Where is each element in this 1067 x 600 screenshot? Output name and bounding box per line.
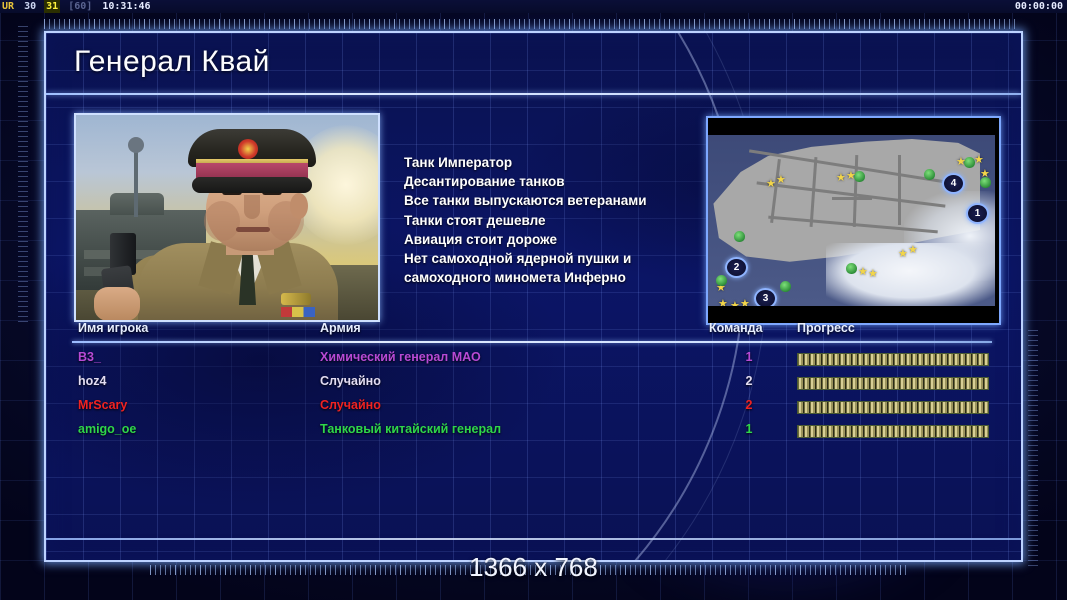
portrait-ribbon [281, 307, 315, 317]
map-preview[interactable]: ★ ★ ★ ★ ★ ★ ★ ★ ★ ★ ★ ★ ★ ★ ★ 1 2 3 4 [706, 116, 1001, 325]
header-divider [72, 341, 992, 343]
table-row[interactable]: B3_ Химический генерал МАО 1 [72, 347, 992, 371]
status-fps: 30 [22, 0, 38, 13]
player-progress-bar [797, 353, 989, 366]
panel-bottom-divider [46, 538, 1021, 540]
map-road [898, 155, 901, 225]
page-title: Генерал Квай [74, 45, 270, 79]
player-progress-bar [797, 377, 989, 390]
portrait-cheek [204, 201, 240, 241]
map-start-position-3[interactable]: 3 [754, 288, 777, 306]
player-name: MrScary [78, 398, 127, 412]
map-start-position-2[interactable]: 2 [725, 257, 748, 278]
map-resource: ★ [908, 245, 918, 255]
resolution-label: 1366 x 768 [0, 552, 1067, 583]
portrait-cap-badge [238, 139, 258, 159]
portrait-ear [290, 193, 308, 219]
map-resource: ★ [980, 169, 990, 179]
portrait-pole-top [128, 137, 144, 153]
map-resource: ★ [836, 173, 846, 183]
map-resource: ★ [868, 269, 878, 279]
map-start-position-1[interactable]: 1 [966, 203, 989, 224]
status-label: UR [0, 0, 16, 13]
status-clock: 00:00:00 [1015, 0, 1063, 13]
player-name: hoz4 [78, 374, 106, 388]
map-road [832, 197, 872, 200]
portrait-mouth [236, 227, 270, 232]
general-info-panel: Генерал Квай [44, 31, 1023, 562]
player-list-header: Имя игрока Армия Команда Прогресс [72, 321, 992, 341]
map-tree [716, 275, 727, 286]
ruler-left [18, 26, 28, 326]
ruler-top [44, 19, 1019, 29]
description-line: самоходного миномета Инферно [404, 268, 704, 287]
map-resource: ★ [730, 301, 740, 306]
map-tree [924, 169, 935, 180]
status-fps-current: 31 [44, 0, 60, 13]
map-tree [734, 231, 745, 242]
general-portrait [74, 113, 380, 322]
description-line: Танк Император [404, 153, 704, 172]
description-line: Нет самоходной ядерной пушки и [404, 249, 704, 268]
map-tree [780, 281, 791, 292]
description-line: Танки стоят дешевле [404, 211, 704, 230]
portrait-badge [281, 293, 311, 305]
portrait-hand [94, 287, 140, 321]
player-progress-bar [797, 401, 989, 414]
map-resource: ★ [956, 157, 966, 167]
column-header-team: Команда [709, 321, 763, 335]
ruler-right [1028, 330, 1038, 570]
map-image: ★ ★ ★ ★ ★ ★ ★ ★ ★ ★ ★ ★ ★ ★ ★ 1 2 3 4 [708, 135, 995, 306]
player-team: 2 [734, 398, 764, 412]
player-army: Танковый китайский генерал [320, 422, 501, 436]
status-time: 10:31:46 [100, 0, 152, 13]
column-header-name: Имя игрока [78, 321, 148, 335]
map-resource: ★ [846, 171, 856, 181]
map-start-position-4[interactable]: 4 [942, 173, 965, 194]
map-resource: ★ [776, 175, 786, 185]
map-tree [846, 263, 857, 274]
player-team: 1 [734, 422, 764, 436]
table-row[interactable]: hoz4 Случайно 2 [72, 371, 992, 395]
column-header-army: Армия [320, 321, 361, 335]
table-row[interactable]: MrScary Случайно 2 [72, 395, 992, 419]
status-fps-max: [60] [66, 0, 94, 13]
player-army: Химический генерал МАО [320, 350, 481, 364]
description-line: Десантирование танков [404, 172, 704, 191]
table-row[interactable]: amigo_oe Танковый китайский генерал 1 [72, 419, 992, 443]
player-name: B3_ [78, 350, 101, 364]
general-description: Танк Император Десантирование танков Все… [404, 153, 704, 287]
map-resource: ★ [718, 299, 728, 306]
player-list: Имя игрока Армия Команда Прогресс B3_ Хи… [72, 321, 992, 443]
player-name: amigo_oe [78, 422, 136, 436]
portrait-cap-brim [192, 177, 312, 193]
game-screen: UR 30 31 [60] 10:31:46 00:00:00 Генерал … [0, 0, 1067, 600]
map-resource: ★ [898, 249, 908, 259]
map-resource: ★ [858, 267, 868, 277]
player-army: Случайно [320, 374, 381, 388]
player-progress-bar [797, 425, 989, 438]
portrait-nose [244, 195, 260, 219]
status-bar: UR 30 31 [60] 10:31:46 00:00:00 [0, 0, 1067, 13]
description-line: Авиация стоит дороже [404, 230, 704, 249]
title-divider [46, 93, 1021, 95]
map-resource: ★ [974, 155, 984, 165]
player-team: 1 [734, 350, 764, 364]
portrait-pole [134, 145, 138, 217]
player-team: 2 [734, 374, 764, 388]
column-header-progress: Прогресс [797, 321, 855, 335]
map-resource: ★ [766, 179, 776, 189]
description-line: Все танки выпускаются ветеранами [404, 191, 704, 210]
player-army: Случайно [320, 398, 381, 412]
map-resource: ★ [740, 299, 750, 306]
